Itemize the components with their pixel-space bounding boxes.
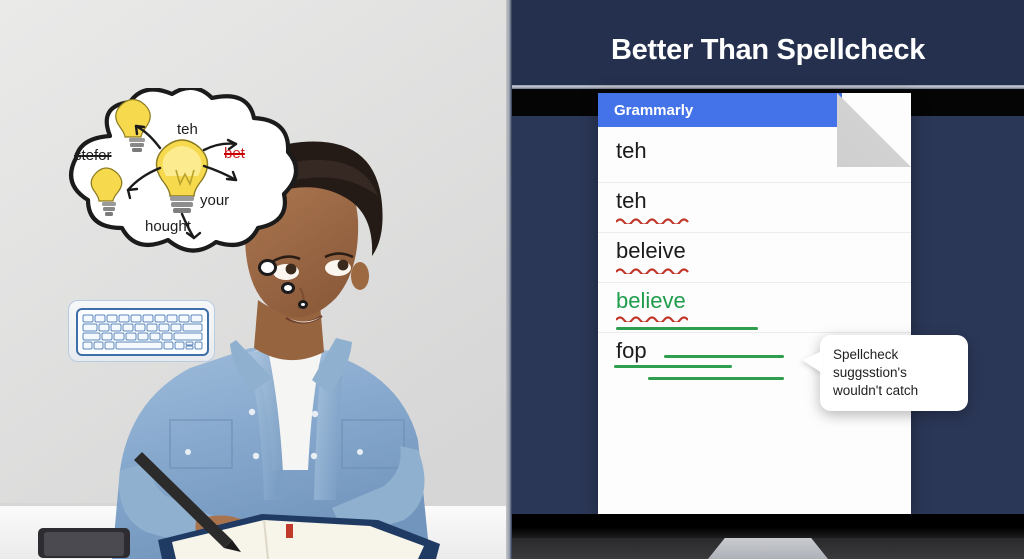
- grammarly-label: Grammarly: [614, 102, 693, 119]
- grammar-suggestion-underline: [616, 327, 758, 330]
- grammar-suggestion-underline: [648, 377, 784, 380]
- callout-line-2: suggsstion's: [833, 364, 955, 382]
- callout-line-1: Spellcheck: [833, 346, 955, 364]
- document-line[interactable]: teh: [598, 133, 911, 183]
- document-line[interactable]: beleive: [598, 233, 911, 283]
- document-header-bar: Grammarly: [598, 93, 842, 127]
- document-word: teh: [616, 189, 647, 212]
- spelling-error-squiggle: [616, 217, 692, 224]
- thought-bubble-dot: [281, 282, 295, 294]
- spellcheck-callout: Spellcheck suggsstion's wouldn't catch: [820, 335, 968, 411]
- grammar-suggestion-underline: [614, 365, 732, 368]
- thought-bubble-words: stefor teh bet your hought: [52, 88, 307, 248]
- spelling-error-squiggle: [616, 267, 690, 274]
- thought-word-bet: bet: [224, 145, 245, 162]
- thought-word-stefor: stefor: [74, 147, 112, 164]
- keyboard-card: [68, 300, 215, 362]
- monitor-stand: [708, 538, 828, 559]
- infographic-canvas: Not a Writing Replacement: [0, 0, 1024, 559]
- document-word: believe: [616, 289, 686, 312]
- keyboard-icon: [76, 308, 209, 356]
- document-word: beleive: [616, 239, 686, 262]
- grammar-suggestion-underline: [664, 355, 784, 358]
- person-writing-scene: [0, 0, 508, 559]
- thought-word-your: your: [200, 192, 229, 209]
- thought-word-teh: teh: [177, 121, 198, 138]
- document-word: teh: [616, 139, 647, 162]
- thought-word-hought: hought: [145, 218, 191, 235]
- callout-tail: [802, 351, 822, 373]
- right-panel: Better Than Spellcheck Grammarly teh teh…: [512, 0, 1024, 559]
- document-line[interactable]: believe: [598, 283, 911, 333]
- grammarly-document[interactable]: Grammarly teh teh beleive believe: [598, 93, 911, 514]
- thought-bubble: stefor teh bet your hought: [52, 88, 307, 273]
- thought-bubble-dot: [298, 300, 308, 309]
- spelling-error-squiggle: [616, 315, 688, 322]
- document-word: fop: [616, 339, 647, 362]
- left-panel: Not a Writing Replacement: [0, 0, 508, 559]
- document-line[interactable]: teh: [598, 183, 911, 233]
- thought-bubble-dot: [258, 259, 277, 276]
- callout-line-3: wouldn't catch: [833, 382, 955, 400]
- monitor-bottom-bezel: [512, 514, 1024, 538]
- right-panel-title: Better Than Spellcheck: [512, 34, 1024, 67]
